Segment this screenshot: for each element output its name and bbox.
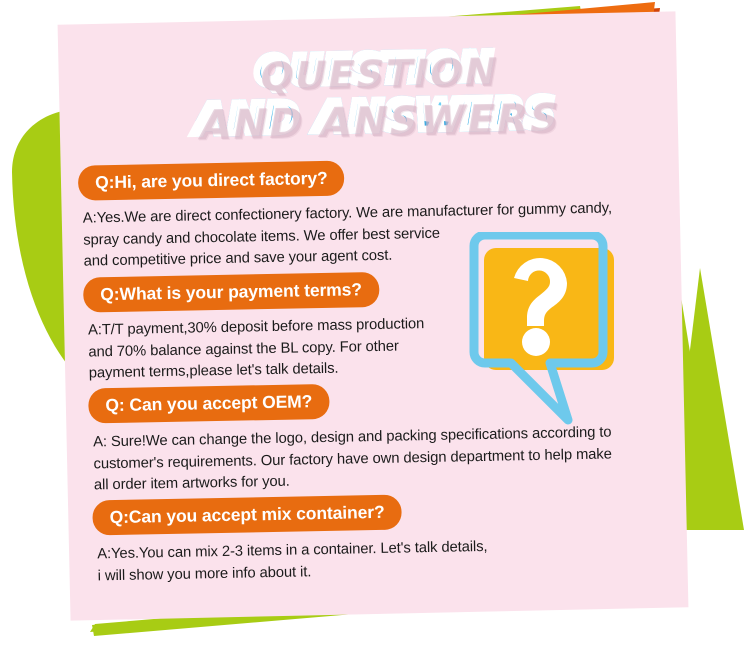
faq-question-pill[interactable]: Q:What is your payment terms? xyxy=(83,272,379,313)
faq-answer-text: A:T/T payment,30% deposit before mass pr… xyxy=(88,308,750,385)
faq-banner: QUESTION AND ANSWERS Q:Hi, are you direc… xyxy=(0,0,750,654)
faq-list: Q:Hi, are you direct factory? A:Yes.We a… xyxy=(0,0,743,7)
faq-answer-text: A: Sure!We can change the logo, design a… xyxy=(93,420,750,497)
faq-question-pill[interactable]: Q: Can you accept OEM? xyxy=(88,384,330,424)
page-title: QUESTION AND ANSWERS xyxy=(0,41,750,145)
faq-question-pill[interactable]: Q:Can you accept mix container? xyxy=(92,495,402,536)
faq-item: Q:Can you accept mix container? A:Yes.Yo… xyxy=(2,488,750,589)
faq-item: Q:What is your payment terms? A:T/T paym… xyxy=(0,265,750,387)
faq-item: Q: Can you accept OEM? A: Sure!We can ch… xyxy=(0,376,750,499)
faq-answer-text: A:Yes.You can mix 2-3 items in a contain… xyxy=(97,532,750,588)
faq-answer-text: A:Yes.We are direct confectionery factor… xyxy=(83,196,748,273)
faq-item: Q:Hi, are you direct factory? A:Yes.We a… xyxy=(0,153,748,275)
faq-question-pill[interactable]: Q:Hi, are you direct factory? xyxy=(78,161,345,201)
